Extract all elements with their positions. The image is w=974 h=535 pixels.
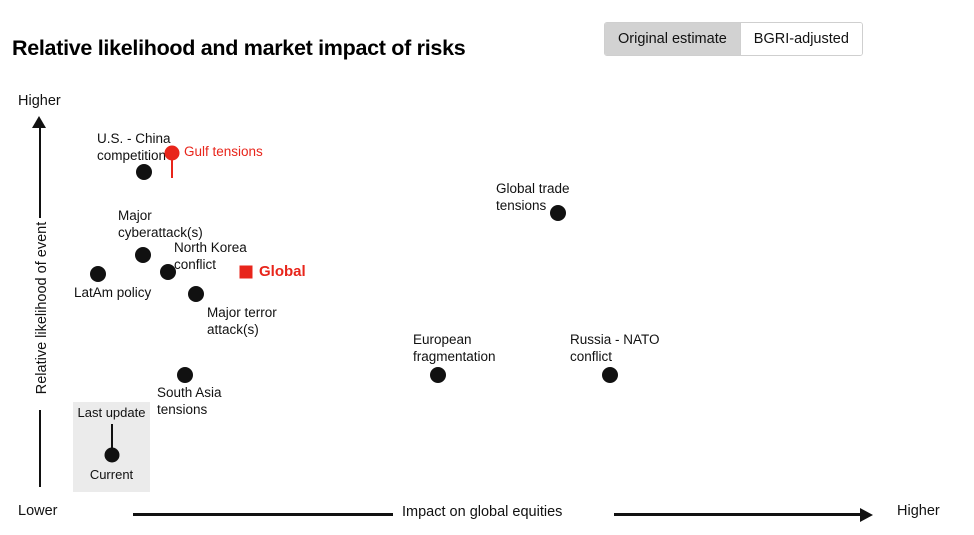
legend-current-label: Current bbox=[73, 467, 150, 482]
data-point-gulf-tensions[interactable] bbox=[165, 146, 180, 161]
point-label-european-fragmentation: European fragmentation bbox=[413, 332, 496, 365]
point-label-global-trade-tensions: Global trade tensions bbox=[496, 181, 570, 214]
point-label-u-s-china-competition: U.S. - China competition bbox=[97, 131, 171, 164]
point-label-major-cyberattack-s: Major cyberattack(s) bbox=[118, 208, 203, 241]
point-label-latam-policy: LatAm policy bbox=[74, 285, 151, 302]
point-label-north-korea-conflict: North Korea conflict bbox=[174, 240, 247, 273]
legend-current-dot-icon bbox=[104, 448, 119, 463]
data-point-major-cyberattack-s[interactable] bbox=[135, 247, 151, 263]
marker-square-global[interactable] bbox=[240, 266, 253, 279]
data-point-latam-policy[interactable] bbox=[90, 266, 106, 282]
point-label-gulf-tensions: Gulf tensions bbox=[184, 144, 263, 161]
point-label-global: Global bbox=[259, 264, 306, 281]
legend-last-update-label: Last update bbox=[73, 405, 150, 420]
point-label-south-asia-tensions: South Asia tensions bbox=[157, 385, 222, 418]
data-point-major-terror-attack-s[interactable] bbox=[188, 286, 204, 302]
data-point-russia-nato-conflict[interactable] bbox=[602, 367, 618, 383]
data-point-european-fragmentation[interactable] bbox=[430, 367, 446, 383]
point-label-russia-nato-conflict: Russia - NATO conflict bbox=[570, 332, 660, 365]
data-point-u-s-china-competition[interactable] bbox=[136, 164, 152, 180]
point-label-major-terror-attack-s: Major terror attack(s) bbox=[207, 305, 277, 338]
data-point-south-asia-tensions[interactable] bbox=[177, 367, 193, 383]
